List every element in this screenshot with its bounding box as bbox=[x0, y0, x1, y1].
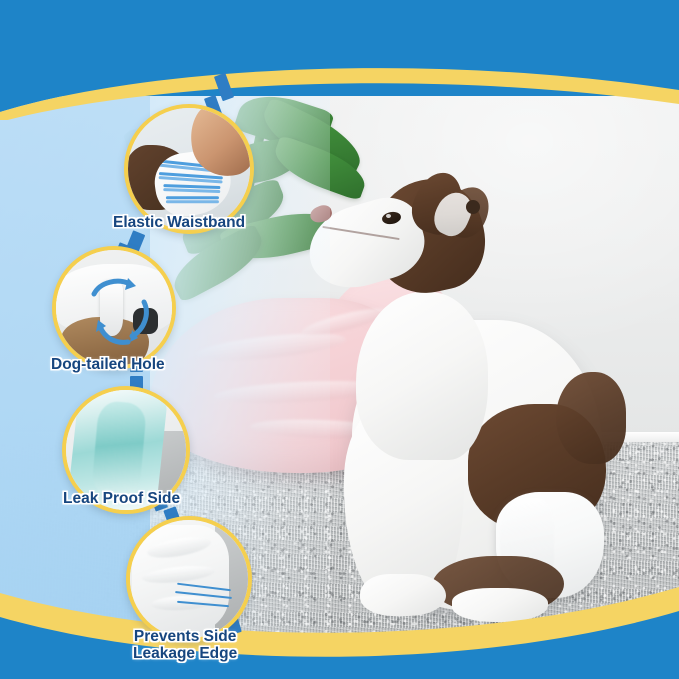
top-yellow-curve bbox=[0, 60, 679, 120]
bottom-yellow-curve bbox=[0, 575, 679, 679]
rotation-arrows-icon bbox=[56, 250, 176, 370]
callout-bubble-dog-tailed-hole[interactable] bbox=[52, 246, 176, 370]
callout-label-elastic-waistband: Elastic Waistband bbox=[113, 214, 245, 231]
callout-label-dog-tailed-hole: Dog-tailed Hole bbox=[51, 356, 165, 373]
callout-bubble-prevents-side-leakage-edge[interactable] bbox=[126, 516, 252, 642]
callout-label-prevents-side-leakage-edge: Prevents Side Leakage Edge bbox=[133, 628, 237, 662]
product-feature-image: PET PARENTING MADE EASIER bbox=[0, 0, 679, 679]
callout-label-leak-proof-side: Leak Proof Side bbox=[63, 490, 180, 507]
